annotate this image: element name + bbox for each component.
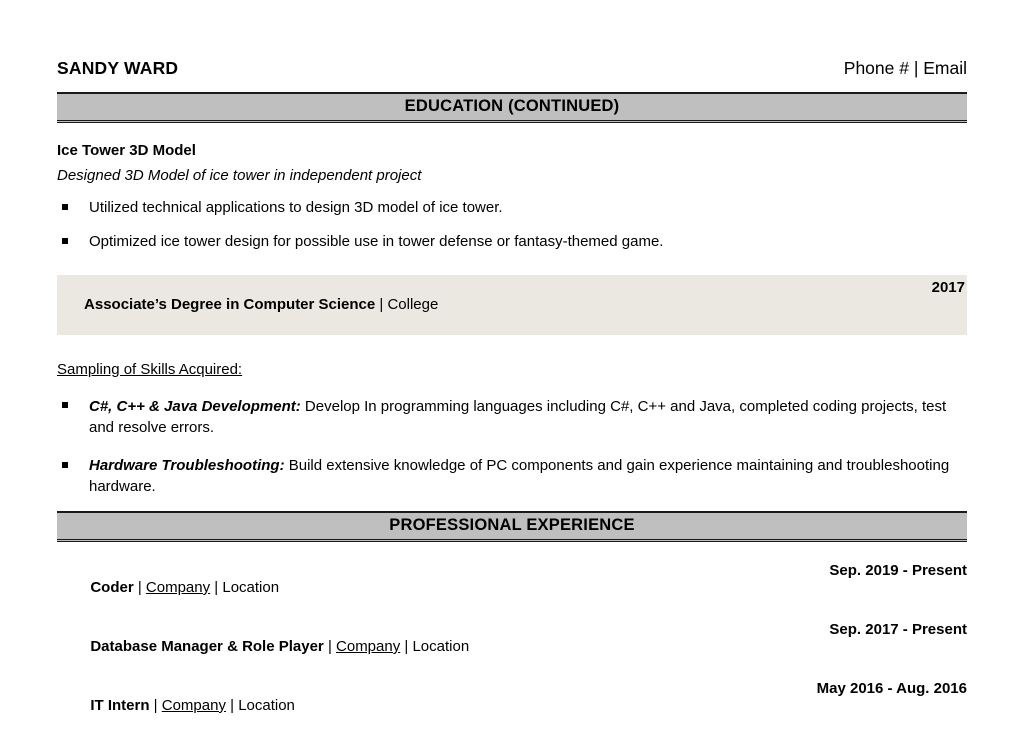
job-separator: | — [210, 579, 222, 596]
job-location: Location — [238, 697, 295, 714]
degree-name: Associate’s Degree in Computer Science — [84, 296, 375, 313]
section-title-education: EDUCATION (CONTINUED) — [405, 97, 620, 115]
job-separator: | — [226, 697, 238, 714]
degree-separator: | — [375, 296, 387, 313]
candidate-name: SANDY WARD — [57, 58, 178, 79]
skill-lead: Hardware Troubleshooting: — [89, 457, 285, 474]
project-subtitle: Designed 3D Model of ice tower in indepe… — [57, 167, 967, 184]
skill-lead: C#, C++ & Java Development: — [89, 398, 301, 415]
square-bullet-icon — [62, 238, 68, 244]
list-item: Optimized ice tower design for possible … — [57, 231, 967, 252]
contact-line: Phone # | Email — [844, 58, 967, 79]
resume-page: SANDY WARD Phone # | Email EDUCATION (CO… — [0, 0, 1024, 621]
job-separator: | — [134, 579, 146, 596]
skills-heading: Sampling of Skills Acquired: — [57, 361, 242, 378]
table-row: IT Intern | Company | Location May 2016 … — [57, 680, 967, 731]
section-title-experience: PROFESSIONAL EXPERIENCE — [389, 516, 634, 534]
job-title: Database Manager & Role Player — [90, 638, 323, 655]
list-item-text: Utilized technical applications to desig… — [89, 199, 503, 216]
experience-left: Database Manager & Role Player | Company… — [57, 621, 469, 672]
job-separator: | — [324, 638, 336, 655]
job-separator: | — [150, 697, 162, 714]
job-company-link[interactable]: Company — [336, 638, 400, 655]
project-bullet-list: Utilized technical applications to desig… — [57, 197, 967, 253]
job-dates: Sep. 2019 - Present — [829, 562, 967, 579]
project-title: Ice Tower 3D Model — [57, 142, 967, 159]
square-bullet-icon — [62, 462, 68, 468]
skills-bullet-list: C#, C++ & Java Development: Develop In p… — [57, 396, 967, 498]
job-company-link[interactable]: Company — [146, 579, 210, 596]
job-company-link[interactable]: Company — [162, 697, 226, 714]
experience-left: IT Intern | Company | Location — [57, 680, 295, 731]
square-bullet-icon — [62, 402, 68, 408]
degree-row: Associate’s Degree in Computer Science |… — [57, 275, 967, 335]
square-bullet-icon — [62, 204, 68, 210]
list-item-text: Optimized ice tower design for possible … — [89, 233, 663, 250]
degree-year: 2017 — [932, 279, 965, 296]
experience-left: Coder | Company | Location — [57, 562, 279, 613]
experience-list: Coder | Company | Location Sep. 2019 - P… — [57, 562, 967, 731]
list-item: C#, C++ & Java Development: Develop In p… — [57, 396, 967, 439]
section-banner-education: EDUCATION (CONTINUED) — [57, 92, 967, 123]
job-location: Location — [412, 638, 469, 655]
table-row: Coder | Company | Location Sep. 2019 - P… — [57, 562, 967, 613]
table-row: Database Manager & Role Player | Company… — [57, 621, 967, 672]
degree-left: Associate’s Degree in Computer Science |… — [59, 279, 438, 330]
degree-school: College — [387, 296, 438, 313]
list-item: Hardware Troubleshooting: Build extensiv… — [57, 455, 967, 498]
job-location: Location — [222, 579, 279, 596]
job-dates: May 2016 - Aug. 2016 — [817, 680, 967, 697]
section-banner-experience: PROFESSIONAL EXPERIENCE — [57, 511, 967, 542]
job-title: Coder — [90, 579, 133, 596]
list-item: Utilized technical applications to desig… — [57, 197, 967, 218]
job-dates: Sep. 2017 - Present — [829, 621, 967, 638]
job-title: IT Intern — [90, 697, 149, 714]
job-separator: | — [400, 638, 412, 655]
document-header: SANDY WARD Phone # | Email — [57, 0, 967, 79]
